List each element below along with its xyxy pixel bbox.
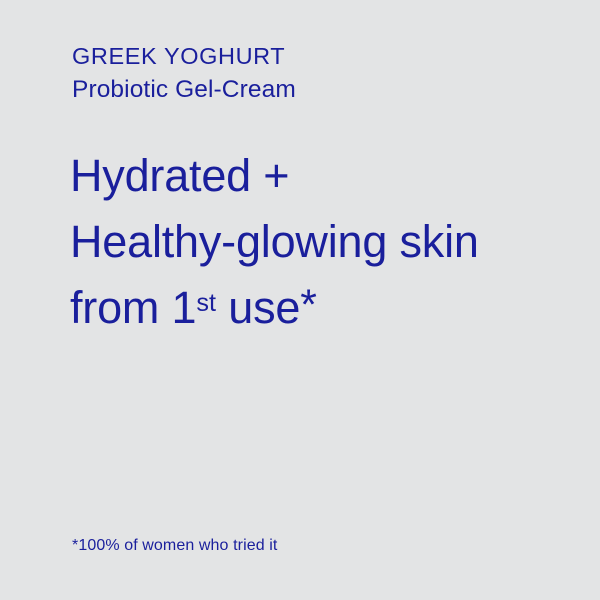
footnote-asterisk-marker: * xyxy=(300,281,316,329)
footnote-text: *100% of women who tried it xyxy=(72,535,277,557)
eyebrow-block: GREEK YOGHURT Probiotic Gel-Cream xyxy=(72,40,572,107)
headline-line-1: Hydrated + xyxy=(70,143,570,209)
headline-line-3-text-after: use xyxy=(216,282,300,333)
headline-line-3-text-before: from 1 xyxy=(70,282,196,333)
ordinal-suffix-superscript: st xyxy=(196,289,216,317)
brand-name: GREEK YOGHURT xyxy=(72,40,572,73)
headline-line-3: from 1st use* xyxy=(70,275,570,348)
product-name: Probiotic Gel-Cream xyxy=(72,73,572,107)
headline-line-2: Healthy-glowing skin xyxy=(70,209,570,275)
promo-poster: GREEK YOGHURT Probiotic Gel-Cream Hydrat… xyxy=(0,0,600,600)
headline-block: Hydrated + Healthy-glowing skin from 1st… xyxy=(70,143,570,348)
